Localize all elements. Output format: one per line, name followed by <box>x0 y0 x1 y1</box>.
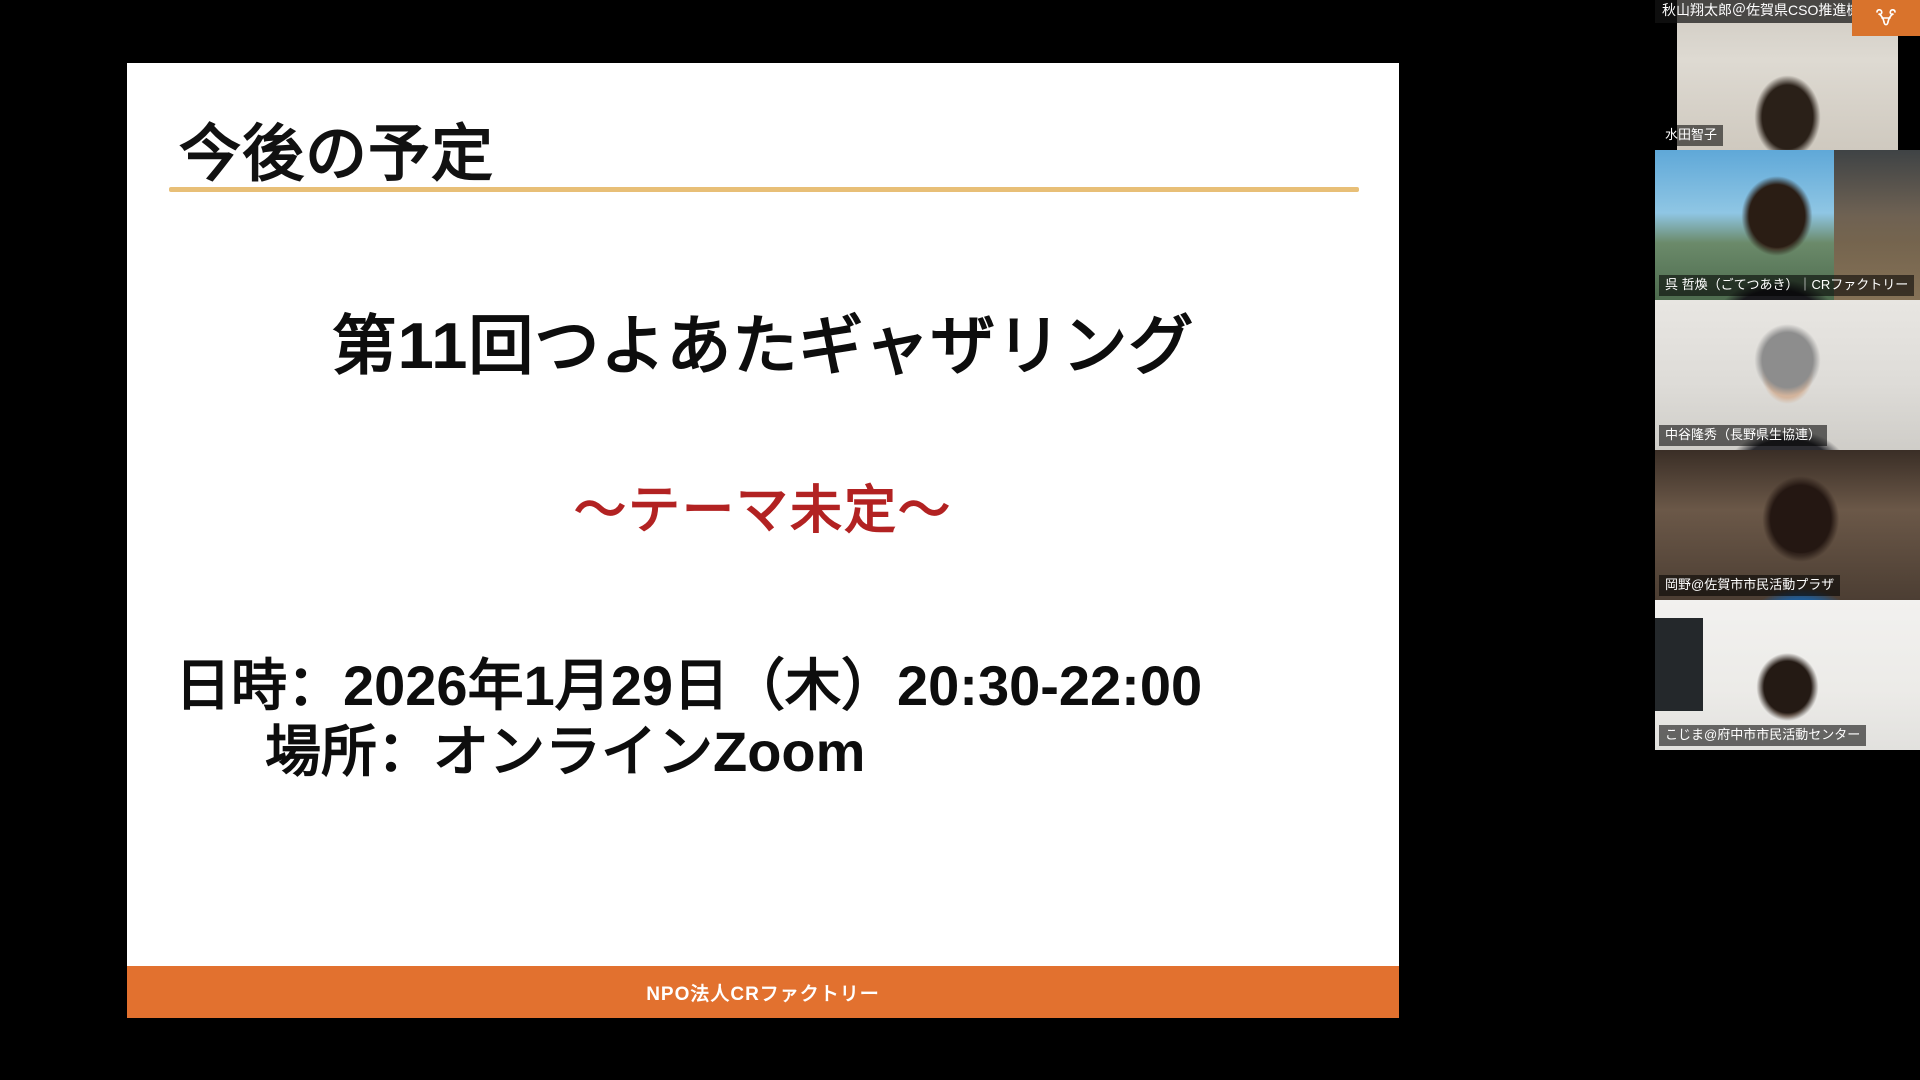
slide-footer-text: NPO法人CRファクトリー <box>646 979 880 1006</box>
participant-tile-kojima[interactable]: こじま@府中市市民活動センター <box>1655 600 1920 750</box>
slide-event-name: 第11回つよあたギャザリング <box>127 293 1399 387</box>
active-speaker-name-banner: 秋山翔太郎＠佐賀県CSO推進機構 <box>1655 0 1881 23</box>
participant-name-label: 水田智子 <box>1659 125 1723 146</box>
slide-detail-block: 日時：2026年1月29日（木）20:30-22:00 場所：オンラインZoom <box>127 653 1399 785</box>
slide-footer-bar: NPO法人CRファクトリー <box>127 966 1399 1018</box>
slide-place-line: 場所：オンラインZoom <box>127 719 1399 785</box>
title-divider-rule <box>169 187 1359 192</box>
participant-name-label: 中谷隆秀（長野県生協連） <box>1659 425 1827 446</box>
slide-title: 今後の予定 <box>179 103 494 193</box>
screen-share-stage: 今後の予定 第11回つよあたギャザリング 〜テーマ未定〜 日時：2026年1月2… <box>0 0 1655 1080</box>
participant-tile-nakatani[interactable]: 中谷隆秀（長野県生協連） <box>1655 300 1920 450</box>
participant-name-label: こじま@府中市市民活動センター <box>1659 725 1866 746</box>
slide-datetime-line: 日時：2026年1月29日（木）20:30-22:00 <box>127 653 1399 719</box>
participant-tile-go[interactable]: 呉 哲煥（ごてつあき）｜CRファクトリー <box>1655 150 1920 300</box>
slide-event-theme: 〜テーマ未定〜 <box>127 468 1399 543</box>
brand-badge <box>1852 0 1920 36</box>
participant-name-label: 呉 哲煥（ごてつあき）｜CRファクトリー <box>1659 275 1914 296</box>
crfactory-swirl-logo-icon <box>1873 7 1899 29</box>
zoom-screenshare-window: 今後の予定 第11回つよあたギャザリング 〜テーマ未定〜 日時：2026年1月2… <box>0 0 1920 1080</box>
participant-name-label: 岡野@佐賀市市民活動プラザ <box>1659 575 1840 596</box>
participant-filmstrip[interactable]: 水田智子 呉 哲煥（ごてつあき）｜CRファクトリー 中谷隆秀（長野県生協連） 岡… <box>1655 0 1920 1080</box>
participant-tile-okano[interactable]: 岡野@佐賀市市民活動プラザ <box>1655 450 1920 600</box>
presentation-slide: 今後の予定 第11回つよあたギャザリング 〜テーマ未定〜 日時：2026年1月2… <box>127 63 1399 1018</box>
